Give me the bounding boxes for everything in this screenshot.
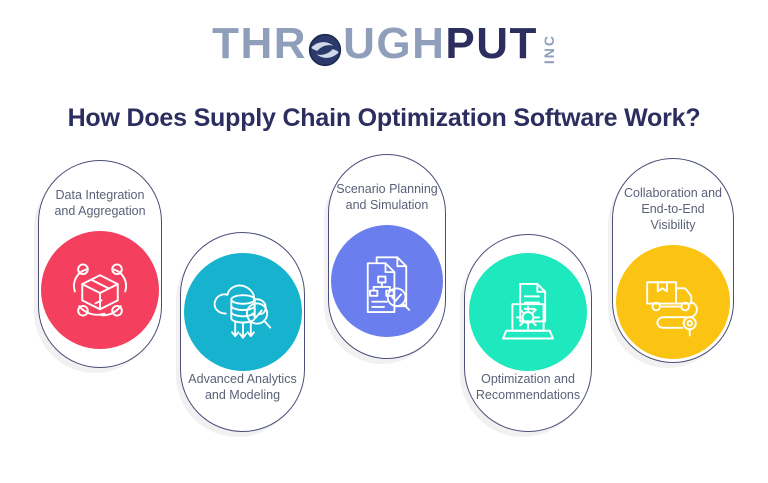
logo-text-inc: INC — [542, 34, 556, 64]
package-network-icon — [41, 231, 159, 349]
laptop-gear-document-icon — [469, 253, 587, 371]
process-card-label: Optimization and Recommendations — [465, 371, 591, 403]
process-diagram: Data Integration and Aggregation — [0, 150, 768, 483]
cloud-database-search-icon — [184, 253, 302, 371]
page-title: How Does Supply Chain Optimization Softw… — [0, 104, 768, 133]
process-card-collaboration[interactable]: Collaboration and End-to-End Visibility — [612, 158, 734, 363]
process-card-label: Data Integration and Aggregation — [39, 187, 161, 219]
logo-text-put: PUT — [445, 22, 538, 66]
logo-text-through-part2: UGH — [343, 22, 445, 66]
process-card-label: Scenario Planning and Simulation — [329, 181, 445, 213]
logo-text-through-part1: THR — [212, 22, 307, 66]
brand-logo: THR UGH PUT INC — [0, 22, 768, 66]
globe-icon — [308, 33, 342, 67]
process-card-label: Advanced Analytics and Modeling — [181, 371, 304, 403]
truck-route-pin-icon — [616, 245, 730, 359]
process-card-data-integration[interactable]: Data Integration and Aggregation — [38, 160, 162, 368]
process-card-advanced-analytics[interactable]: Advanced Analytics and Modeling — [180, 232, 305, 432]
logo-lockup: THR UGH PUT INC — [212, 22, 556, 66]
document-flowchart-search-icon — [331, 225, 443, 337]
process-card-scenario-planning[interactable]: Scenario Planning and Simulation — [328, 154, 446, 359]
process-card-optimization[interactable]: Optimization and Recommendations — [464, 234, 592, 432]
process-card-label: Collaboration and End-to-End Visibility — [613, 185, 733, 233]
